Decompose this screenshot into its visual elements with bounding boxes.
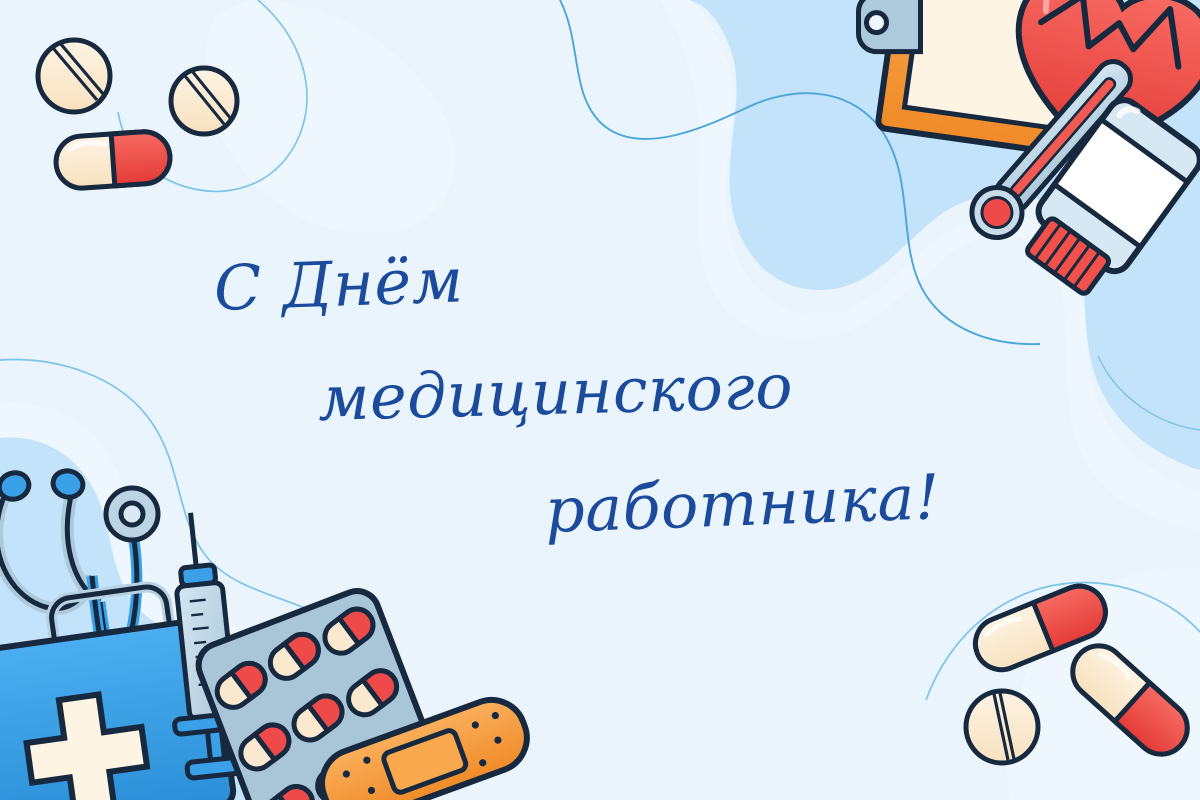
medical-tools-bottom-left — [0, 468, 536, 800]
greeting-card: С Днём медицинского работника! — [0, 0, 1200, 800]
medical-tools-top-right — [840, 0, 1200, 305]
pills-top-left — [38, 40, 237, 190]
medical-illustrations — [0, 0, 1200, 800]
capsule-icon — [1062, 635, 1198, 765]
clipboard-clip-icon — [859, 0, 921, 52]
capsule-icon — [54, 130, 171, 190]
pills-bottom-right — [966, 578, 1198, 764]
tablet-icon — [38, 40, 110, 112]
tablet-icon — [171, 68, 237, 134]
tablet-icon — [966, 691, 1038, 763]
